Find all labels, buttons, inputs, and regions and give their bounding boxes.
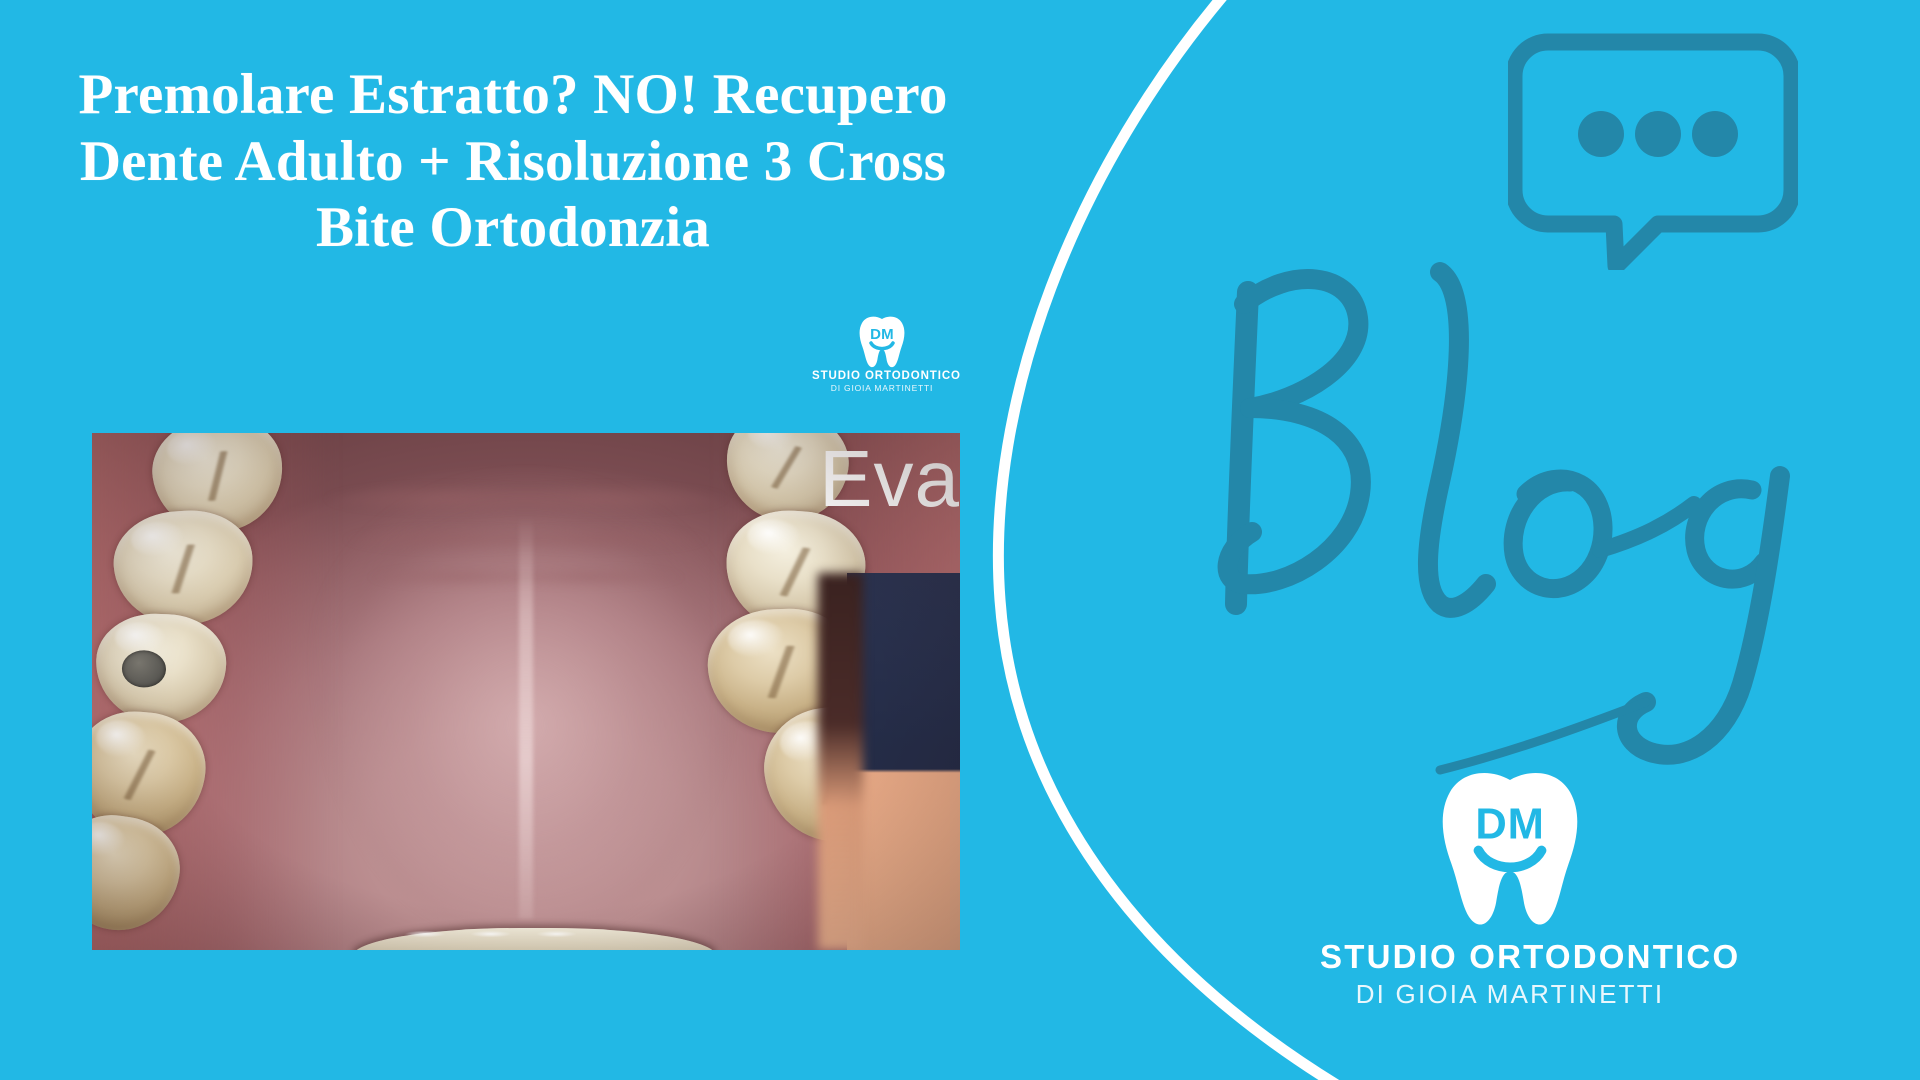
photo-caption-overlay: Eva (819, 439, 960, 519)
page-title-line-2: Dente Adulto + Risoluzione 3 Cross (18, 129, 1008, 196)
speech-dot-2 (1635, 111, 1681, 157)
page-title-line-1: Premolare Estratto? NO! Recupero (18, 62, 1008, 129)
speech-dot-3 (1692, 111, 1738, 157)
median-raphe (519, 516, 533, 919)
patient-shoulder (847, 573, 960, 950)
lower-incisors (352, 928, 717, 950)
speech-dot-1 (1578, 111, 1624, 157)
tooth-icon: DM (812, 316, 952, 368)
svg-text:DM: DM (1475, 801, 1544, 849)
page-title: Premolare Estratto? NO! Recupero Dente A… (18, 62, 1008, 262)
brand-logo: DM STUDIO ORTODONTICO DI GIOIA MARTINETT… (1320, 770, 1700, 1010)
tooth-icon: DM (1320, 770, 1700, 930)
svg-text:DM: DM (870, 326, 894, 343)
blog-script-word (1140, 232, 1880, 792)
blog-cover-canvas: Premolare Estratto? NO! Recupero Dente A… (0, 0, 1920, 1080)
page-title-line-3: Bite Ortodonzia (18, 195, 1008, 262)
watermark-logo: DM STUDIO ORTODONTICO DI GIOIA MARTINETT… (812, 316, 952, 393)
watermark-logo-line-2: DI GIOIA MARTINETTI (812, 383, 952, 393)
clinical-photo: Eva (92, 433, 960, 950)
brand-logo-line-2: DI GIOIA MARTINETTI (1320, 979, 1700, 1010)
amalgam-filling (122, 649, 168, 687)
brand-logo-line-1: STUDIO ORTODONTICO (1320, 938, 1700, 976)
watermark-logo-line-1: STUDIO ORTODONTICO (812, 370, 952, 382)
